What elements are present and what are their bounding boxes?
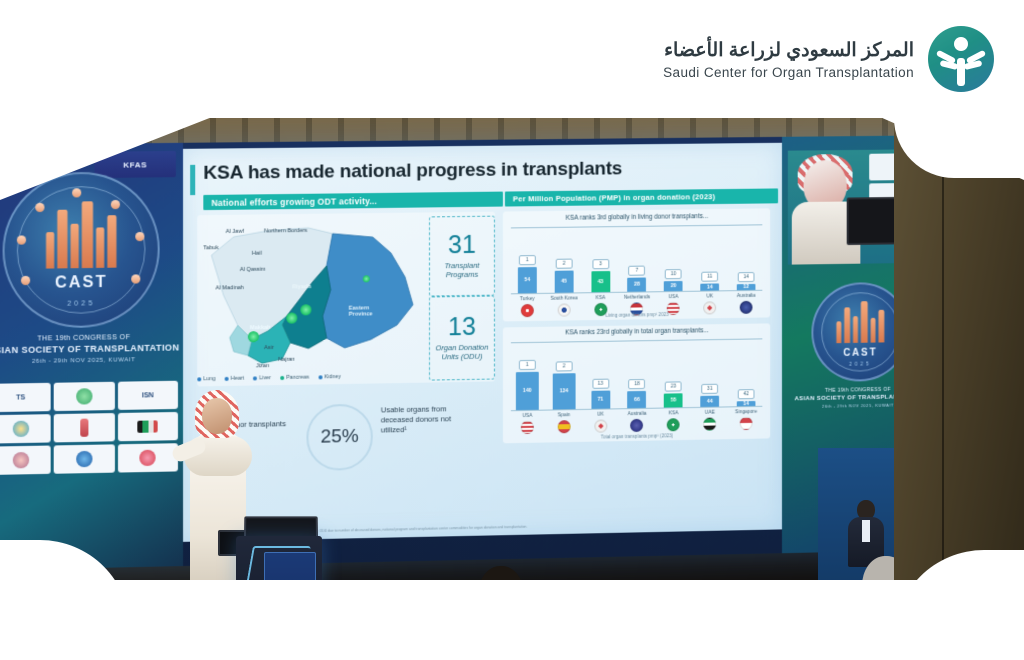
chart-total-transplants: KSA ranks 23rd globally in total organ t…	[503, 323, 770, 443]
map-label: Tabuk	[203, 245, 218, 251]
cast-wordmark: CAST	[5, 273, 158, 293]
rank-badge: 31	[701, 384, 718, 394]
rank-badge: 2	[555, 259, 572, 269]
bar-group: 1140	[513, 360, 541, 410]
flag-singapore-icon	[740, 417, 753, 430]
led-video-wall: KFAS CAST 2025	[0, 135, 934, 570]
page-header: المركز السعودي لزراعة الأعضاء Saudi Cent…	[0, 0, 1024, 118]
sponsor-logo	[54, 444, 115, 473]
country-group: KSA	[660, 409, 688, 431]
donut-percent: 25%	[321, 426, 359, 449]
country-label: KSA	[596, 296, 606, 301]
legend-label: Liver	[259, 375, 271, 381]
rank-badge: 14	[738, 272, 755, 282]
country-label: South Korea	[550, 296, 577, 301]
sponsor-label: ISN	[142, 392, 154, 399]
chart-1-title: KSA ranks 3rd globally in living donor t…	[503, 212, 770, 222]
country-label: UK	[597, 413, 604, 418]
congress-line-3: 26th - 29th NOV 2025, KUWAIT	[0, 355, 183, 366]
bar-group: 4214	[732, 389, 760, 406]
legend-label: Pancreas	[286, 375, 309, 381]
legend-dot-icon	[197, 377, 201, 381]
rank-badge: 2	[555, 361, 572, 371]
map-label: Hail	[252, 251, 262, 257]
stat-organ-donation-units: 13 Organ Donation Units (ODU)	[429, 296, 495, 381]
slide-band-left: National efforts growing ODT activity...	[203, 192, 503, 211]
map-label: Al Jawf	[226, 229, 244, 235]
bar-highlight: 55	[664, 393, 683, 407]
body-figure-icon	[80, 419, 88, 437]
brain-tree-icon	[76, 388, 92, 404]
slide-title: KSA has made national progress in transp…	[203, 158, 622, 185]
slide-band-right: Per Million Population (PMP) in organ do…	[505, 188, 778, 206]
rank-badge: 7	[629, 266, 646, 276]
congress-title-block: THE 19th CONGRESS OF ASIAN SOCIETY OF TR…	[0, 332, 183, 366]
rank-badge: 10	[665, 269, 682, 279]
bar: 71	[591, 391, 610, 409]
bar-group: 728	[623, 265, 651, 291]
country-group: Singapore	[732, 408, 760, 430]
country-label: Spain	[558, 413, 570, 418]
bar-group: 2355	[660, 381, 688, 407]
country-group: USA	[513, 412, 541, 434]
country-label: KSA	[669, 411, 679, 416]
flag-usa-icon	[521, 421, 534, 434]
legend-item: Lung	[197, 376, 215, 382]
stat-caption: Organ Donation Units (ODU)	[430, 342, 494, 362]
society-icon	[12, 452, 28, 468]
brand-name-arabic: المركز السعودي لزراعة الأعضاء	[663, 39, 914, 62]
bar-group: 245	[550, 259, 578, 293]
bar-group: 1371	[587, 379, 615, 409]
map-label: Al Madinah	[215, 285, 243, 291]
legend-dot-icon	[280, 376, 284, 380]
bar-group: 1114	[696, 271, 724, 290]
sponsor-logo-grid: TS ISN	[0, 381, 178, 475]
chart-1-bars: 154 245 343 728 1020 1114 1412	[509, 228, 764, 293]
country-group: UK	[587, 410, 615, 432]
country-label: Netherlands	[624, 295, 650, 300]
bar-group: 1020	[660, 269, 688, 291]
stat-caption: Transplant Programs	[430, 260, 494, 280]
legend-item: Kidney	[318, 374, 341, 380]
bar-group: 343	[587, 259, 615, 292]
frame-mask-bottom	[0, 580, 1024, 660]
legend-item: Heart	[225, 376, 244, 382]
bar: 54	[518, 267, 537, 293]
usable-organs-label: Usable organs from deceased donors not u…	[381, 404, 467, 435]
sponsor-logo	[118, 443, 178, 472]
rank-badge: 1	[519, 360, 536, 370]
congress-banner-left: KFAS CAST 2025	[0, 143, 183, 571]
brand-text: المركز السعودي لزراعة الأعضاء Saudi Cent…	[663, 39, 914, 80]
brand-name-english: Saudi Center for Organ Transplantation	[663, 65, 914, 80]
country-group: Australia	[623, 410, 651, 432]
flag-uk-icon	[594, 419, 607, 432]
country-label: USA	[668, 295, 678, 300]
country-label: Australia	[628, 412, 647, 417]
rank-badge: 23	[665, 381, 682, 391]
legend-dot-icon	[253, 376, 257, 380]
conference-photo: KFAS CAST 2025	[0, 118, 1024, 660]
bar: 140	[516, 372, 539, 410]
flag-spain-icon	[557, 420, 570, 433]
bar: 20	[664, 281, 683, 291]
bar: 66	[628, 391, 647, 408]
cast-logo: CAST 2025	[3, 171, 160, 329]
screenshot-root: KFAS CAST 2025	[0, 0, 1024, 660]
country-label: Turkey	[520, 297, 535, 302]
sponsor-logo	[118, 412, 178, 441]
presentation-slide: KSA has made national progress in transp…	[183, 143, 782, 542]
kuwait-flag-icon	[138, 420, 158, 432]
stat-number: 13	[448, 314, 476, 339]
country-label: Singapore	[735, 410, 757, 415]
map-label: Riyadh	[292, 284, 311, 290]
chart-living-donor: KSA ranks 3rd globally in living donor t…	[503, 208, 770, 321]
sponsor-logo: ISN	[118, 381, 178, 410]
bar-highlight: 43	[591, 271, 610, 292]
brand-lockup: المركز السعودي لزراعة الأعضاء Saudi Cent…	[663, 26, 994, 92]
sponsor-logo	[0, 414, 51, 443]
country-group: Spain	[550, 411, 578, 433]
rank-badge: 11	[701, 272, 718, 282]
map-label: Najran	[278, 357, 295, 363]
flag-ksa-icon	[667, 418, 680, 431]
panelist-shirt	[862, 520, 870, 542]
ksa-map-svg	[203, 219, 420, 373]
sponsor-logo	[54, 382, 115, 411]
bar-group: 154	[513, 255, 541, 293]
country-label: USA	[522, 414, 532, 419]
cast-logo-towers	[46, 201, 116, 269]
legend-dot-icon	[225, 377, 229, 381]
map-label: Northern Borders	[264, 228, 307, 235]
kfas-label: KFAS	[123, 160, 147, 169]
heart-ribbon-icon	[140, 450, 156, 466]
rank-badge: 18	[629, 379, 646, 389]
cast-logo-towers	[836, 301, 884, 343]
country-label: UK	[706, 294, 713, 299]
logo-trunk-icon	[957, 58, 965, 86]
map-label: Eastern Province	[349, 305, 379, 317]
legend-label: Lung	[203, 376, 215, 382]
slide-accent-bar	[190, 165, 195, 195]
bar-group: 2134	[550, 361, 578, 409]
flag-australia-icon	[631, 419, 644, 432]
bar: 45	[554, 271, 573, 293]
bar: 44	[700, 396, 719, 407]
map-label: Jizan	[256, 363, 269, 369]
country-group: UAE	[696, 408, 724, 430]
bar-group: 1866	[623, 379, 651, 408]
map-label: Asir	[264, 345, 274, 351]
stat-number: 31	[448, 232, 476, 257]
legend-item: Pancreas	[280, 375, 309, 382]
country-label: Australia	[737, 294, 756, 299]
rank-badge: 1	[519, 255, 536, 265]
kidney-icon	[76, 451, 92, 467]
legend-label: Kidney	[324, 374, 341, 380]
rank-badge: 13	[592, 379, 609, 389]
sponsor-logo	[54, 413, 115, 442]
sponsor-logo	[0, 446, 51, 475]
country-label: UAE	[705, 411, 715, 416]
legend-item: Liver	[253, 375, 271, 381]
bar-group: 3144	[696, 384, 724, 407]
globe-icon	[12, 421, 28, 437]
rank-badge: 3	[592, 259, 609, 269]
usable-organs-donut: 25%	[306, 404, 372, 471]
bar: 28	[628, 277, 647, 291]
legend-label: Heart	[231, 376, 244, 382]
stat-transplant-programs: 31 Transplant Programs	[429, 216, 495, 297]
sponsor-label: TS	[16, 394, 25, 401]
map-label: Al Qassim	[240, 267, 266, 273]
cast-year: 2025	[5, 299, 158, 308]
scot-logo-icon	[928, 26, 994, 92]
chart-2-labels: USA Spain UK Australia KSA UAE Singapore	[509, 408, 764, 434]
ksa-map: Al Jawf Northern Borders Tabuk Hail Al Q…	[203, 219, 420, 373]
chart-2-title: KSA ranks 23rd globally in total organ t…	[503, 326, 770, 337]
legend-dot-icon	[318, 375, 322, 379]
sponsor-logo: TS	[0, 383, 51, 412]
chart-2-bars: 1140 2134 1371 1866 2355 3144 4214	[509, 342, 764, 410]
flag-uae-icon	[703, 418, 716, 431]
bar-group: 1412	[732, 272, 760, 290]
bar: 134	[552, 373, 575, 409]
presenter-face	[202, 398, 232, 434]
rank-badge: 42	[738, 389, 755, 399]
